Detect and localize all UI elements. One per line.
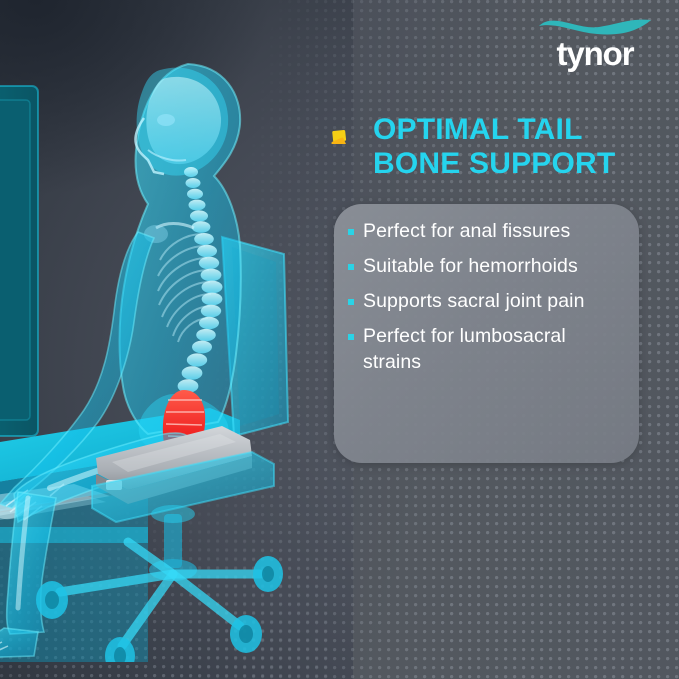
page-title: OPTIMAL TAIL BONE SUPPORT <box>373 113 615 181</box>
feature-card: Perfect for anal fissures Suitable for h… <box>334 204 639 463</box>
bullet-square-icon <box>348 229 354 235</box>
brand-logo: tynor <box>533 14 657 76</box>
list-item-label: Suitable for hemorrhoids <box>363 253 578 279</box>
xray-person-sitting-at-desk <box>0 22 328 662</box>
feature-list: Perfect for anal fissures Suitable for h… <box>348 218 623 375</box>
list-item: Perfect for lumbosacral strains <box>348 323 623 375</box>
list-item-label: Perfect for lumbosacral strains <box>363 323 619 375</box>
list-item-label: Supports sacral joint pain <box>363 288 585 314</box>
brand-name: tynor <box>533 37 657 71</box>
list-item: Perfect for anal fissures <box>348 218 623 246</box>
list-item: Supports sacral joint pain <box>348 288 623 316</box>
poster-canvas: tynor OPTIMAL TAIL BONE SUPPORT <box>0 0 679 679</box>
list-item: Suitable for hemorrhoids <box>348 253 623 281</box>
list-item-label: Perfect for anal fissures <box>363 218 570 244</box>
monitor-icon <box>0 86 38 436</box>
bullet-square-icon <box>348 264 354 270</box>
bullet-square-icon <box>348 334 354 340</box>
bullet-square-icon <box>348 299 354 305</box>
